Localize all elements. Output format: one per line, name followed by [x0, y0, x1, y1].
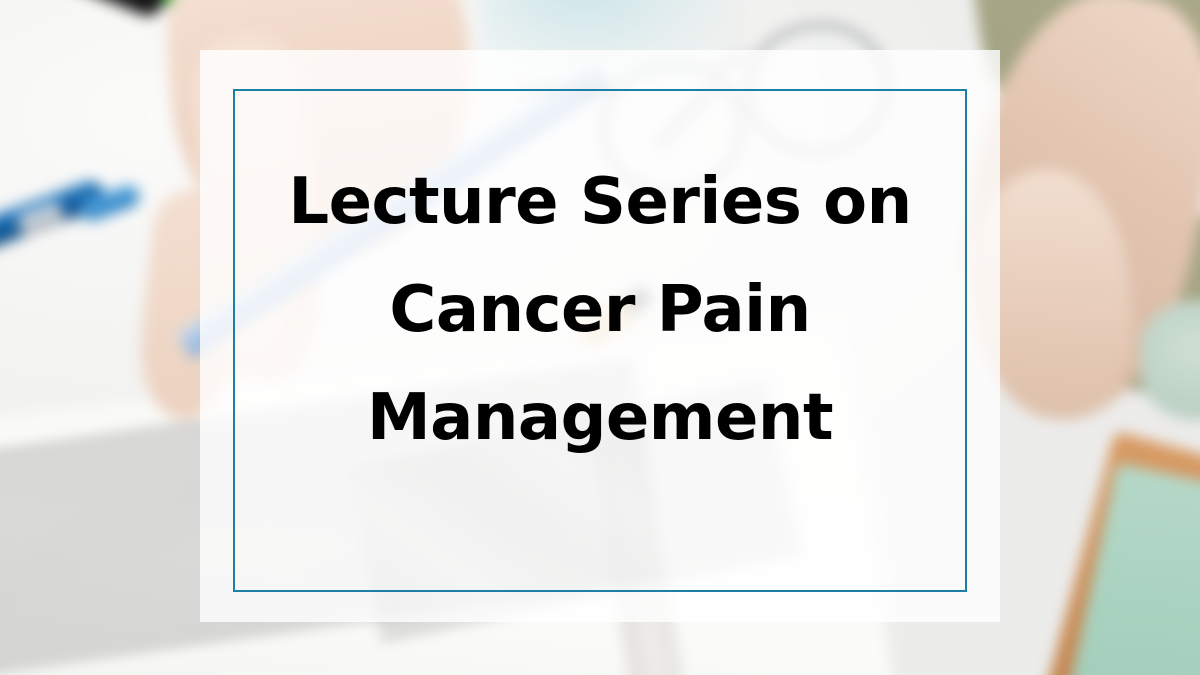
title-line-2: Cancer Pain — [0, 256, 1200, 364]
title-line-1: Lecture Series on — [0, 148, 1200, 256]
title-line-3: Management — [0, 364, 1200, 472]
page-title: Lecture Series on Cancer Pain Management — [0, 148, 1200, 472]
slide-canvas: Lecture Series on Cancer Pain Management — [0, 0, 1200, 675]
